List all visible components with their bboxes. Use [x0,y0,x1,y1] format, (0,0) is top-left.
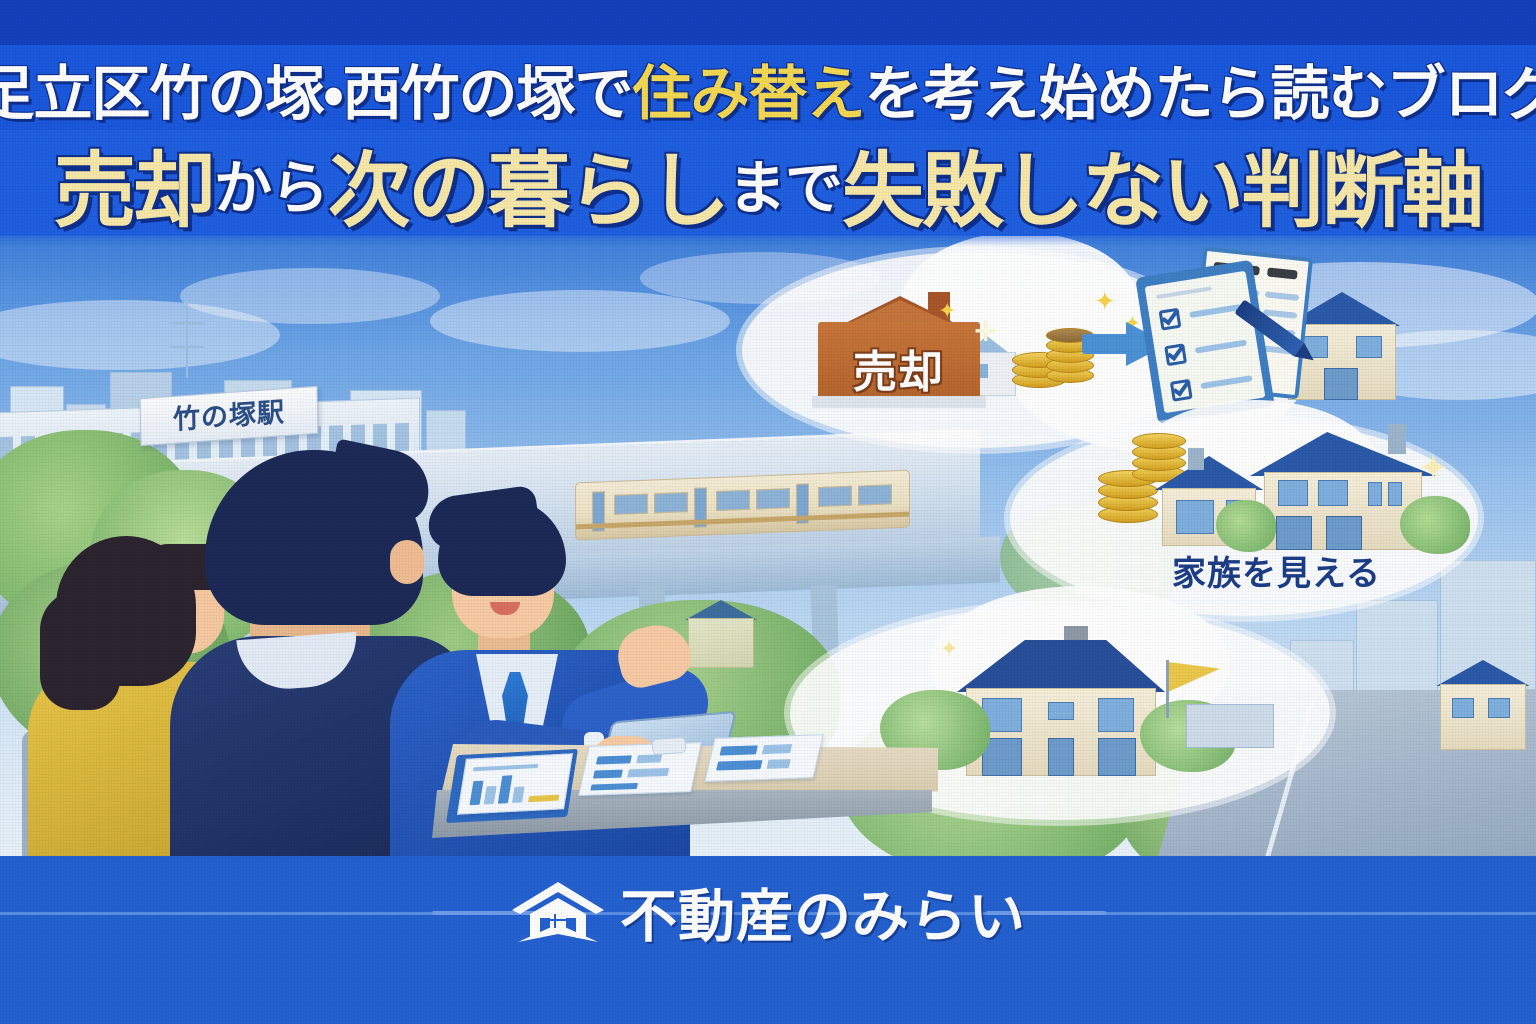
sparkle-icon: ✦ [940,638,958,660]
house-window [1048,702,1074,720]
train-window [716,490,750,511]
doc-line [596,755,632,764]
house-window [1388,482,1402,506]
doc-line [762,744,792,754]
sparkle-icon: ✦ [1418,450,1448,486]
doc-line [720,745,758,755]
thought-dot [1056,260,1078,277]
clip-title-line [1156,286,1212,299]
eraser [651,737,686,755]
house-window [1488,698,1510,718]
bubble-family-caption: 家族を見える [1172,546,1381,595]
house-door [1098,738,1136,776]
gold-coin [1132,433,1186,449]
carport [1186,704,1274,748]
house-window [1176,500,1214,534]
brand-name: 不動産のみらい [620,871,1026,953]
background-house [1430,660,1536,752]
house-window [1318,480,1348,506]
headline-segment-big: 次の暮らし [328,124,728,243]
house-door [1324,368,1358,400]
house-for-sale: 売却 [806,282,992,406]
sparkle-icon: ✛ [974,318,997,346]
chart-bar [512,786,525,803]
train-window [756,488,790,509]
doc-line [636,754,662,763]
foliage [1216,500,1276,552]
headline-line-2: 売却から次の暮らしまで失敗しない判断軸 [0,130,1536,236]
clip-line [1200,375,1252,389]
dream-house [952,626,1170,778]
sparkle-icon: ✦ [1094,288,1116,314]
headline-segment-big: 売却 [54,124,214,243]
headline-segment: を考え始めたら読むブログ [865,46,1536,131]
headline-line-1: 足立区竹の塚・西竹の塚で住み替えを考え始めたら読むブログ [0,48,1536,128]
headline-segment-highlight: 住み替え [633,46,865,131]
document-with-chart [457,753,573,814]
headline-segment-big: 失敗しない判断軸 [842,124,1482,243]
foliage [1400,496,1470,554]
doc-line [627,768,669,777]
house-window [1356,336,1382,358]
house-door [1276,516,1312,550]
flag-pole [1166,660,1169,718]
house-door [1326,516,1362,550]
house-roof [1430,660,1536,686]
man-ear [390,540,424,584]
doc-header-bar [1267,267,1298,279]
thought-dot [1086,260,1104,275]
chimney [1188,448,1204,470]
cloud [430,290,730,352]
doc-line [593,770,623,779]
house-door [1048,738,1074,776]
doc-line [473,764,538,771]
cloud [180,268,440,324]
sale-label: 売却 [818,336,980,400]
eyecatch-banner: 竹の塚駅 売却 ✦ ✛ ✦ ✦ [0,0,1536,1024]
doc-line [1265,291,1299,301]
train-window [858,484,892,505]
header-top-strip [0,0,1536,45]
house-window [1278,480,1308,506]
chimney [1388,424,1406,454]
clip-line [1189,304,1241,318]
chart-bar [498,775,513,803]
sparkle-icon: ✦ [938,300,956,322]
chart-highlight [528,795,559,803]
chart-bar [484,786,497,804]
thought-dot [1022,262,1048,282]
house-icon [510,880,606,944]
headline-segment-small: まで [728,141,842,225]
chart-bar [470,781,484,805]
doc-line [590,783,638,791]
brand-lockup[interactable]: 不動産のみらい [0,868,1536,956]
clipboard-paper [1145,271,1266,413]
house-window [1452,698,1474,718]
house-roof [948,640,1174,692]
woman-hair-side [40,590,120,710]
building [1356,600,1438,696]
house-window [1098,698,1134,732]
transmission-tower [186,300,188,378]
headline-segment-small: から [214,141,328,225]
house-roof [1244,432,1442,476]
train-window [818,486,852,507]
headline-segment: 足立区竹の塚・西竹の塚で [0,46,633,131]
house-window [1368,482,1382,506]
doc-line [716,760,762,771]
clip-line [1195,340,1247,354]
document-sheet [704,734,823,782]
doc-line [766,759,790,769]
